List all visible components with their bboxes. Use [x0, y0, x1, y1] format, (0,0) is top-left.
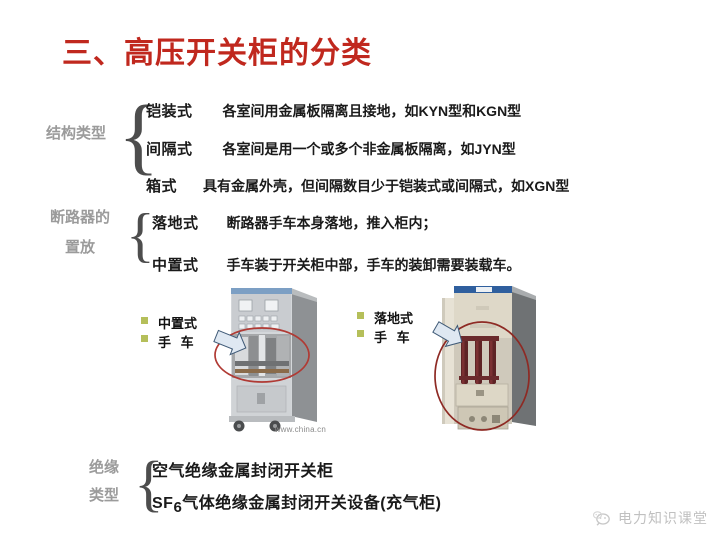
footer-watermark-text: 电力知识课堂	[618, 508, 708, 528]
group-insulation-type: 绝缘 类型 { 空气绝缘金属封闭开关柜 SF6气体绝缘金属封闭开关设备(充气柜)	[0, 0, 720, 540]
wechat-cloud-icon	[592, 510, 612, 526]
row-insulation-1-suffix: 气体绝缘金属封闭开关设备(充气柜)	[182, 489, 441, 513]
row-insulation-1-subscript: 6	[173, 499, 182, 516]
group-insulation-label-line2: 类型	[76, 486, 132, 506]
row-insulation-0-text: 空气绝缘金属封闭开关柜	[152, 457, 334, 481]
row-insulation-1: SF6气体绝缘金属封闭开关设备(充气柜)	[152, 489, 441, 516]
footer-watermark: 电力知识课堂	[592, 508, 708, 528]
row-insulation-1-prefix: SF	[152, 495, 173, 513]
row-insulation-0: 空气绝缘金属封闭开关柜	[152, 457, 334, 481]
group-insulation-label-line1: 绝缘	[76, 458, 132, 478]
